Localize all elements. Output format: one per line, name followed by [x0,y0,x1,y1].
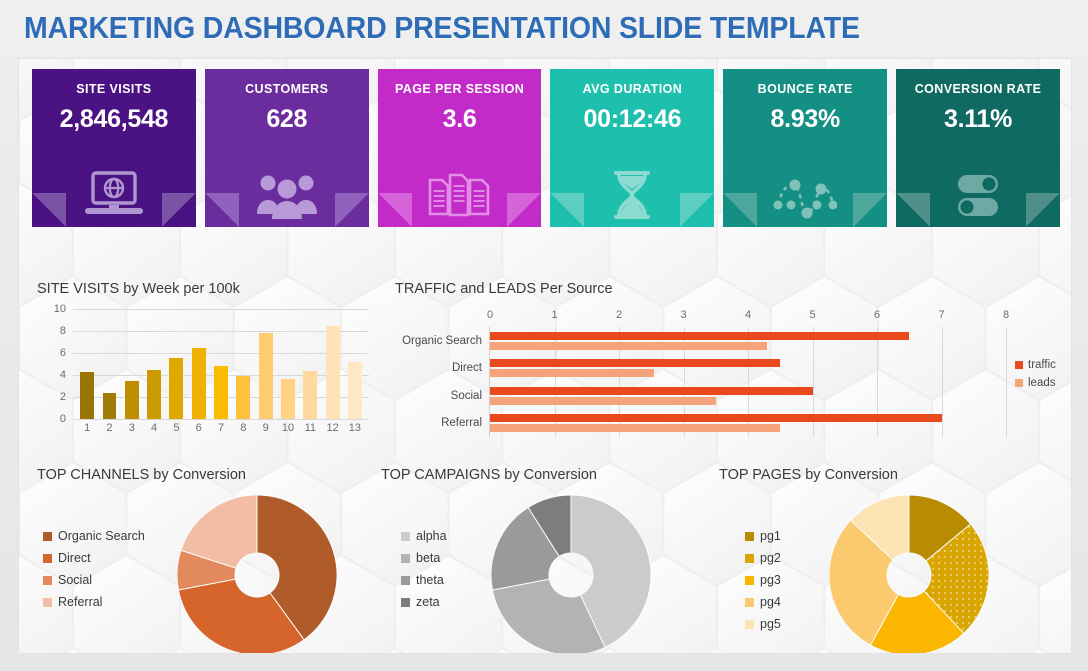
x-axis-label: 3 [121,422,143,434]
legend-swatch [745,598,754,607]
legend-swatch [401,598,410,607]
legend-item-pg4[interactable]: pg4 [745,595,781,609]
y-axis-tick: 10 [54,303,66,315]
donut-legend: pg1pg2pg3pg4pg5 [745,529,781,639]
bar-week-8[interactable] [236,376,250,419]
x-axis-label: 4 [143,422,165,434]
legend-item-pg2[interactable]: pg2 [745,551,781,565]
x-axis-label: 7 [210,422,232,434]
y-axis-tick: 4 [60,369,66,381]
bar-slot [121,309,143,419]
x-axis-label: 5 [165,422,187,434]
bar-traffic-direct[interactable] [490,359,780,367]
legend-label: zeta [416,595,440,609]
legend-item-alpha[interactable]: alpha [401,529,447,543]
bar-week-5[interactable] [169,358,183,419]
bar-group-organic-search: Organic Search [490,327,1005,355]
bar-slot [143,309,165,419]
kpi-card-avg-duration[interactable]: AVG DURATION00:12:46 [550,69,714,227]
y-axis-tick: 2 [60,391,66,403]
kpi-title-customers: CUSTOMERS [245,82,328,96]
legend-label: Direct [58,551,91,565]
donut-graphic: alpha: 43%beta: 29%theta: 19%zeta: 9% [491,495,651,654]
x-axis-tick: 1 [551,309,557,321]
kpi-title-bounce-rate: BOUNCE RATE [758,82,853,96]
legend-label: leads [1028,377,1056,389]
x-axis-label: 13 [344,422,366,434]
legend-swatch [43,598,52,607]
y-axis-tick: 0 [60,413,66,425]
kpi-value-bounce-rate: 8.93% [771,105,840,134]
people-group-icon [205,159,369,221]
toggle-switches-icon [896,159,1060,221]
legend-swatch [43,532,52,541]
x-axis-tick: 2 [616,309,622,321]
x-axis-label: 12 [321,422,343,434]
kpi-value-customers: 628 [266,105,307,134]
bar-week-2[interactable] [103,393,117,419]
bar-slot [210,309,232,419]
bar-slot [188,309,210,419]
bar-week-4[interactable] [147,370,161,420]
bar-slot [98,309,120,419]
kpi-title-page-per-session: PAGE PER SESSION [395,82,524,96]
legend-swatch [401,532,410,541]
legend-label: Social [58,573,92,587]
bar-leads-social[interactable] [490,397,716,405]
bar-week-1[interactable] [80,372,94,419]
y-axis-tick: 6 [60,347,66,359]
x-axis-tick: 3 [680,309,686,321]
legend-label: Referral [58,595,102,609]
kpi-title-site-visits: SITE VISITS [76,82,151,96]
x-axis-label: 9 [255,422,277,434]
kpi-card-page-per-session[interactable]: PAGE PER SESSION3.6 [378,69,542,227]
bar-leads-referral[interactable] [490,424,780,432]
gridline [73,419,369,420]
legend-item-theta[interactable]: theta [401,573,447,587]
donut-legend: Organic SearchDirectSocialReferral [43,529,145,617]
bar-traffic-social[interactable] [490,387,813,395]
dashboard-panel: SITE VISITS2,846,548CUSTOMERS628PAGE PER… [18,58,1072,654]
legend-item-referral[interactable]: Referral [43,595,145,609]
x-axis-tick: 6 [874,309,880,321]
bar-week-6[interactable] [192,348,206,419]
kpi-value-avg-duration: 00:12:46 [584,105,682,134]
dashboard-root: MARKETING DASHBOARD PRESENTATION SLIDE T… [0,0,1088,671]
donut-title: TOP CHANNELS by Conversion [37,467,246,483]
kpi-value-conversion-rate: 3.11% [944,105,1012,134]
category-label: Organic Search [402,335,482,347]
donut-title: TOP PAGES by Conversion [719,467,898,483]
panel-content: SITE VISITS2,846,548CUSTOMERS628PAGE PER… [19,59,1071,653]
legend-item-direct[interactable]: Direct [43,551,145,565]
bar-slot [277,309,299,419]
laptop-globe-icon [32,159,196,221]
legend-swatch [401,554,410,563]
legend-item-traffic[interactable]: traffic [1015,359,1056,371]
legend-item-zeta[interactable]: zeta [401,595,447,609]
bar-slot [344,309,366,419]
x-axis-label: 6 [188,422,210,434]
kpi-card-row: SITE VISITS2,846,548CUSTOMERS628PAGE PER… [32,69,1060,227]
site-visits-chart-title: SITE VISITS by Week per 100k [37,281,240,297]
bar-week-10[interactable] [281,379,295,419]
traffic-leads-plot-area: 012345678Organic SearchDirectSocialRefer… [489,327,1005,437]
page-title: MARKETING DASHBOARD PRESENTATION SLIDE T… [24,10,860,46]
legend-label: Organic Search [58,529,145,543]
legend-label: beta [416,551,440,565]
legend-label: theta [416,573,444,587]
legend-label: pg3 [760,573,781,587]
bar-slot [232,309,254,419]
kpi-title-avg-duration: AVG DURATION [583,82,682,96]
x-axis-tick: 0 [487,309,493,321]
site-visits-x-labels: 12345678910111213 [73,422,369,434]
x-axis-tick: 7 [938,309,944,321]
legend-swatch [401,576,410,585]
x-axis-tick: 8 [1003,309,1009,321]
bar-week-9[interactable] [259,333,273,419]
legend-item-beta[interactable]: beta [401,551,447,565]
legend-label: pg2 [760,551,781,565]
legend-label: pg5 [760,617,781,631]
kpi-card-customers[interactable]: CUSTOMERS628 [205,69,369,227]
bar-group-social: Social [490,382,1005,410]
top-pages-donut-chart: TOP PAGES by Conversionpg1pg2pg3pg4pg5pg… [719,467,1059,654]
site-visits-bar-chart: SITE VISITS by Week per 100k 0246810 123… [37,281,377,461]
legend-swatch [745,554,754,563]
x-axis-label: 11 [299,422,321,434]
bar-group-referral: Referral [490,410,1005,438]
bar-week-7[interactable] [214,366,228,419]
traffic-leads-legend: trafficleads [1015,359,1056,395]
legend-swatch [43,576,52,585]
bar-series [73,309,369,419]
legend-swatch [1015,361,1023,369]
kpi-title-conversion-rate: CONVERSION RATE [915,82,1042,96]
category-label: Social [451,390,482,402]
legend-label: pg4 [760,595,781,609]
top-campaigns-donut-chart: TOP CAMPAIGNS by Conversionalphabetathet… [381,467,721,654]
legend-swatch [745,620,754,629]
bar-slot [165,309,187,419]
category-label: Referral [441,417,482,429]
bar-leads-organic-search[interactable] [490,342,767,350]
x-axis-label: 1 [76,422,98,434]
legend-label: alpha [416,529,447,543]
wave-scatter-icon [723,159,887,221]
documents-icon [378,159,542,221]
bar-week-3[interactable] [125,381,139,419]
bar-leads-direct[interactable] [490,369,654,377]
x-axis-tick: 4 [745,309,751,321]
legend-item-social[interactable]: Social [43,573,145,587]
x-axis-tick: 5 [809,309,815,321]
bar-traffic-organic-search[interactable] [490,332,909,340]
kpi-card-site-visits[interactable]: SITE VISITS2,846,548 [32,69,196,227]
traffic-leads-chart-title: TRAFFIC and LEADS Per Source [395,281,613,297]
category-label: Direct [452,362,482,374]
donut-graphic: Organic Search: 40%Direct: 32%Social: 8%… [177,495,337,654]
title-bar: MARKETING DASHBOARD PRESENTATION SLIDE T… [0,0,1088,56]
legend-swatch [43,554,52,563]
x-axis-label: 10 [277,422,299,434]
legend-item-pg3[interactable]: pg3 [745,573,781,587]
legend-item-leads[interactable]: leads [1015,377,1056,389]
bar-slot [321,309,343,419]
bar-week-11[interactable] [303,371,317,419]
gridline [1006,327,1007,437]
x-axis-label: 8 [232,422,254,434]
bar-slot [299,309,321,419]
legend-label: pg1 [760,529,781,543]
bar-traffic-referral[interactable] [490,414,942,422]
kpi-card-conversion-rate[interactable]: CONVERSION RATE3.11% [896,69,1060,227]
bar-slot [76,309,98,419]
y-axis-tick: 8 [60,325,66,337]
hourglass-icon [550,159,714,221]
site-visits-plot-area: 0246810 [73,309,369,419]
bar-week-12[interactable] [326,326,340,420]
kpi-value-site-visits: 2,846,548 [60,105,169,134]
donut-graphic: pg1: 14%pg2: 24%pg3: 20%pg4: 29%pg5: 13% [829,495,989,654]
legend-item-organic-search[interactable]: Organic Search [43,529,145,543]
legend-item-pg5[interactable]: pg5 [745,617,781,631]
bar-group-direct: Direct [490,355,1005,383]
x-axis-label: 2 [98,422,120,434]
kpi-value-page-per-session: 3.6 [443,105,477,134]
traffic-leads-bar-chart: TRAFFIC and LEADS Per Source 012345678Or… [395,281,1059,461]
top-channels-donut-chart: TOP CHANNELS by ConversionOrganic Search… [37,467,377,654]
legend-label: traffic [1028,359,1056,371]
donut-legend: alphabetathetazeta [401,529,447,617]
kpi-card-bounce-rate[interactable]: BOUNCE RATE8.93% [723,69,887,227]
legend-item-pg1[interactable]: pg1 [745,529,781,543]
legend-swatch [745,576,754,585]
legend-swatch [745,532,754,541]
bar-week-13[interactable] [348,362,362,419]
bar-slot [255,309,277,419]
legend-swatch [1015,379,1023,387]
donut-title: TOP CAMPAIGNS by Conversion [381,467,597,483]
